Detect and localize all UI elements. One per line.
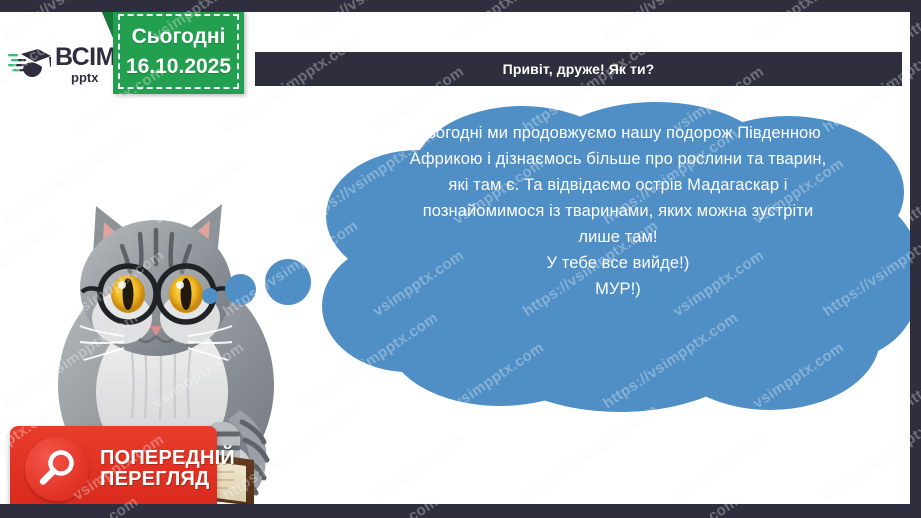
speech-bubble: Сьогодні ми продовжуємо нашу подорож Пів… (300, 100, 910, 412)
date-badge-date: 16.10.2025 (126, 55, 231, 79)
logo-wordmark: ВСІМ pptx (55, 45, 116, 84)
speech-bubble-text: Сьогодні ми продовжуємо нашу подорож Пів… (408, 120, 828, 302)
preview-button-label: ПОПЕРЕДНІЙ ПЕРЕГЛЯД (100, 448, 235, 490)
preview-button-line1: ПОПЕРЕДНІЙ (100, 448, 235, 469)
date-badge: Сьогодні 16.10.2025 (113, 12, 244, 94)
slide-preview-stage: ВСІМ pptx (0, 0, 921, 518)
date-badge-label: Сьогодні (132, 25, 226, 49)
frame-bottom-strip (0, 504, 921, 518)
logo-sub-text: pptx (71, 71, 116, 84)
logo-main-text: ВСІМ (55, 45, 116, 70)
thought-dot-medium (225, 274, 256, 305)
frame-top-strip (0, 0, 921, 12)
preview-button[interactable]: ПОПЕРЕДНІЙ ПЕРЕГЛЯД (10, 426, 217, 504)
header-banner: Привіт, друже! Як ти? (255, 52, 902, 86)
frame-right-strip (910, 0, 921, 518)
slide-canvas: ВСІМ pptx (0, 12, 910, 504)
thought-dot-small (202, 288, 218, 304)
graduation-cap-icon (8, 47, 52, 81)
date-badge-fold (101, 12, 113, 38)
header-title: Привіт, друже! Як ти? (503, 61, 655, 77)
preview-button-line2: ПЕРЕГЛЯД (100, 469, 235, 490)
brand-logo: ВСІМ pptx (8, 40, 126, 88)
magnifier-icon (25, 437, 89, 501)
